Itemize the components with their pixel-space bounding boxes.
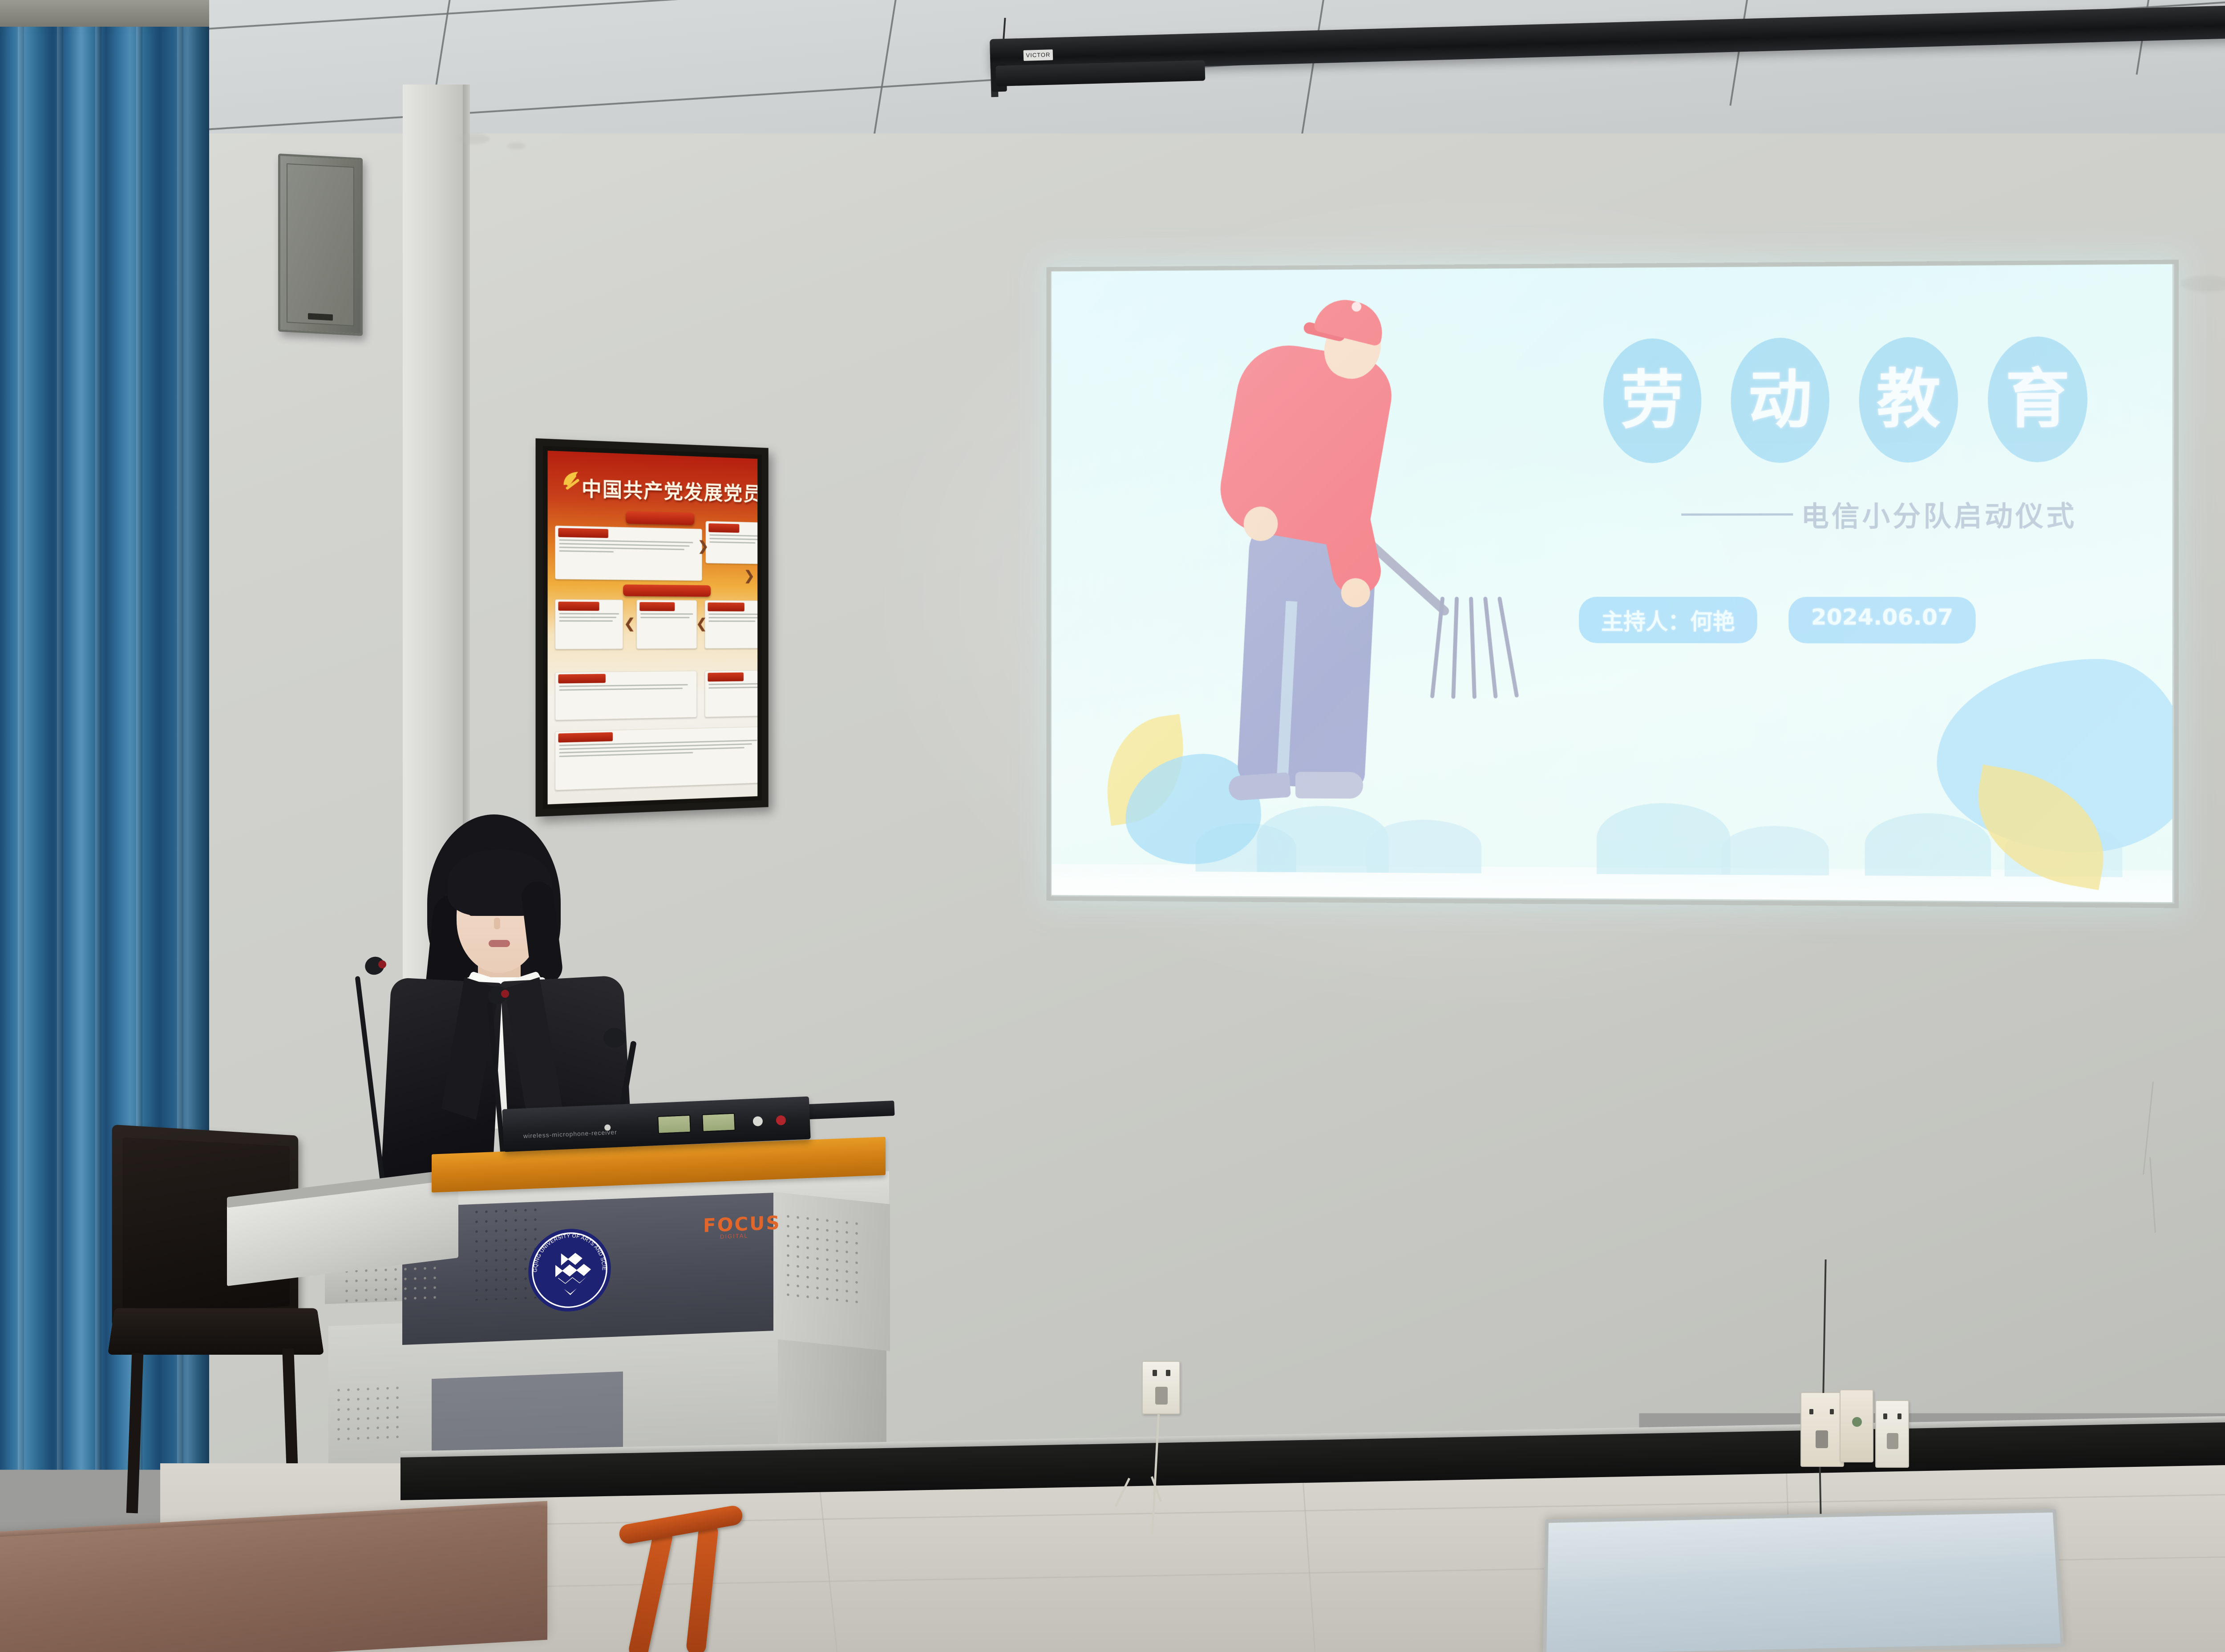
foreground-chair[interactable] [614, 1526, 748, 1652]
poster-card [705, 670, 758, 717]
receiver-power-led [776, 1115, 786, 1126]
speaker-grille [287, 163, 354, 326]
receiver-knob[interactable] [752, 1116, 763, 1126]
receiver-display-a [657, 1115, 691, 1134]
podium-vent-right [783, 1211, 859, 1304]
university-emblem: CHONGQING UNIVERSITY OF ARTS AND SCIENCE… [527, 1226, 612, 1314]
poster-card [636, 600, 697, 649]
wall-smudge [507, 142, 525, 150]
wall-network-plate[interactable] [1840, 1389, 1873, 1462]
poster-card [555, 671, 697, 721]
wall-speaker [278, 154, 363, 336]
lecture-room-scene: 中国共产党发展党员工作流程图 ❯ ❯ [0, 0, 2225, 1652]
poster-card [555, 526, 702, 581]
poster-card [705, 600, 758, 649]
microphone-head-desk[interactable] [603, 1028, 626, 1048]
receiver-display-b [702, 1113, 736, 1132]
podium-brand-sub: DIGITAL [720, 1232, 748, 1240]
speaker-brand-plate [308, 313, 333, 321]
roller-brand-label: VICTOR [1023, 49, 1053, 61]
poster-card [555, 599, 623, 649]
projected-slide-border [1047, 260, 2179, 908]
poster-section-band [626, 511, 694, 525]
poster-card [706, 521, 758, 564]
podium-vent-lower [334, 1383, 405, 1448]
wall-poster-frame: 中国共产党发展党员工作流程图 ❯ ❯ [536, 438, 769, 817]
poster-title: 中国共产党发展党员工作流程图 [582, 473, 752, 506]
party-workflow-poster: 中国共产党发展党员工作流程图 ❯ ❯ [548, 451, 758, 805]
presenter-mouth [489, 940, 510, 947]
poster-card [555, 726, 757, 790]
poster-section-band [623, 584, 711, 597]
wall-socket-right[interactable] [1875, 1400, 1909, 1468]
wall-socket-center[interactable] [1800, 1392, 1844, 1467]
wall-smudge [458, 134, 489, 144]
microphone-ring-right [501, 990, 509, 998]
microphone-ring-left [378, 960, 386, 968]
foreground-table-right[interactable] [1543, 1509, 2064, 1652]
wall-socket-left[interactable] [1142, 1361, 1180, 1414]
curtain-rail [0, 0, 209, 27]
